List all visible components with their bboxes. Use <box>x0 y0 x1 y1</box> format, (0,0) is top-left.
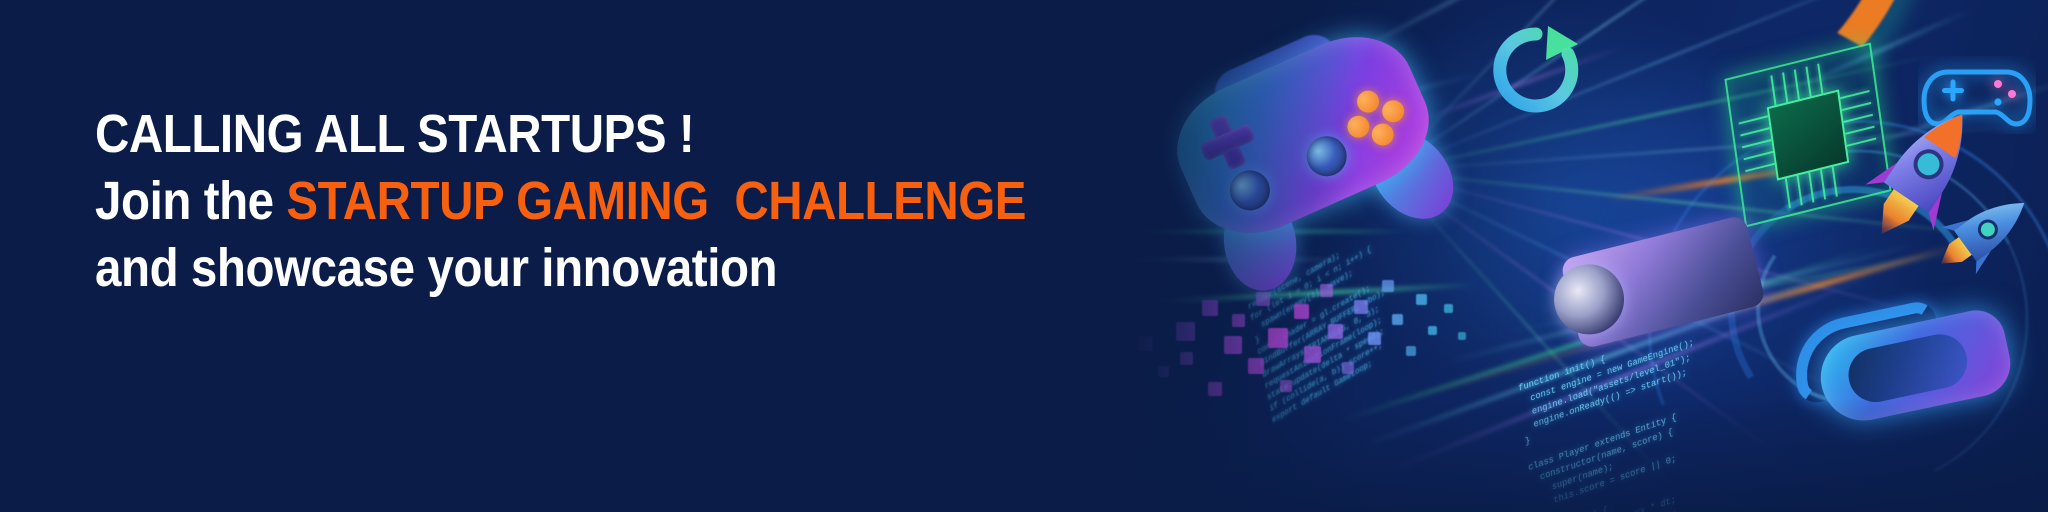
headline-line-3: and showcase your innovation <box>95 237 975 299</box>
promo-banner: function init() { const engine = new Gam… <box>0 0 2048 512</box>
headline-line-2: Join the STARTUP GAMING CHALLENGE <box>95 170 975 232</box>
headline-line-1: CALLING ALL STARTUPS ! <box>95 103 975 165</box>
pixel-blocks <box>1128 270 1488 440</box>
headline-line-2-accent: STARTUP GAMING CHALLENGE <box>286 171 1026 231</box>
headline-line-2-prefix: Join the <box>95 171 286 231</box>
gaming-artwork: function init() { const engine = new Gam… <box>1088 0 2048 512</box>
headline-block: CALLING ALL STARTUPS ! Join the STARTUP … <box>95 103 1095 299</box>
refresh-arrow-icon <box>1488 22 1584 118</box>
